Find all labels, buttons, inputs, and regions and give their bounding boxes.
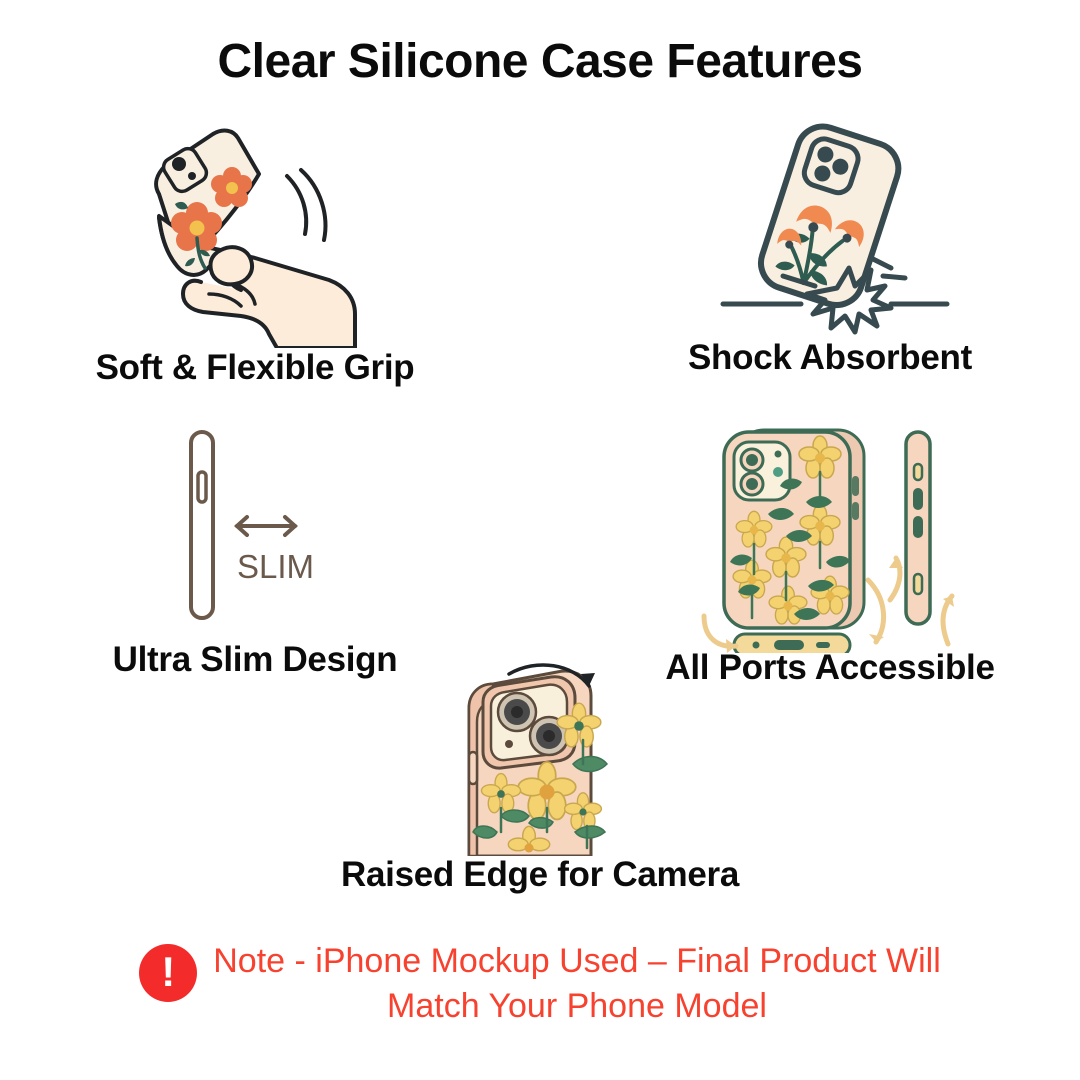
- feature-card-shock: Shock Absorbent: [600, 118, 1060, 378]
- feature-art-slim: SLIM: [20, 418, 490, 640]
- feature-card-ports: All Ports Accessible: [600, 418, 1060, 688]
- page-title: Clear Silicone Case Features: [0, 34, 1080, 89]
- phone-side-profile-slim-arrow-icon: SLIM: [155, 418, 355, 640]
- feature-card-slim: SLIM Ultra Slim Design: [20, 418, 490, 680]
- slim-annotation-text: SLIM: [237, 548, 314, 585]
- note-line-2: Match Your Phone Model: [213, 985, 941, 1028]
- exclamation-glyph: !: [139, 944, 197, 1002]
- feature-art-camera: [280, 660, 800, 855]
- feature-art-shock: [600, 118, 1060, 338]
- phone-case-ports-arrows-icon: [690, 418, 970, 653]
- feature-card-camera: Raised Edge for Camera: [280, 660, 800, 895]
- note-banner: ! Note - iPhone Mockup Used – Final Prod…: [0, 940, 1080, 1027]
- note-line-1: Note - iPhone Mockup Used – Final Produc…: [213, 940, 941, 983]
- feature-label-grip: Soft & Flexible Grip: [20, 348, 490, 388]
- feature-card-grip: Soft & Flexible Grip: [20, 118, 490, 388]
- feature-label-shock: Shock Absorbent: [600, 338, 1060, 378]
- exclamation-circle-icon: !: [139, 944, 197, 1002]
- feature-art-ports: [600, 418, 1060, 648]
- note-text: Note - iPhone Mockup Used – Final Produc…: [213, 940, 941, 1027]
- hand-flexing-phone-case-icon: [105, 118, 405, 348]
- phone-case-raised-camera-edge-icon: [425, 660, 655, 856]
- infographic-page: Clear Silicone Case Features: [0, 0, 1080, 1080]
- feature-label-camera: Raised Edge for Camera: [280, 855, 800, 895]
- phone-case-impact-burst-icon: [705, 118, 955, 338]
- feature-art-grip: [20, 118, 490, 348]
